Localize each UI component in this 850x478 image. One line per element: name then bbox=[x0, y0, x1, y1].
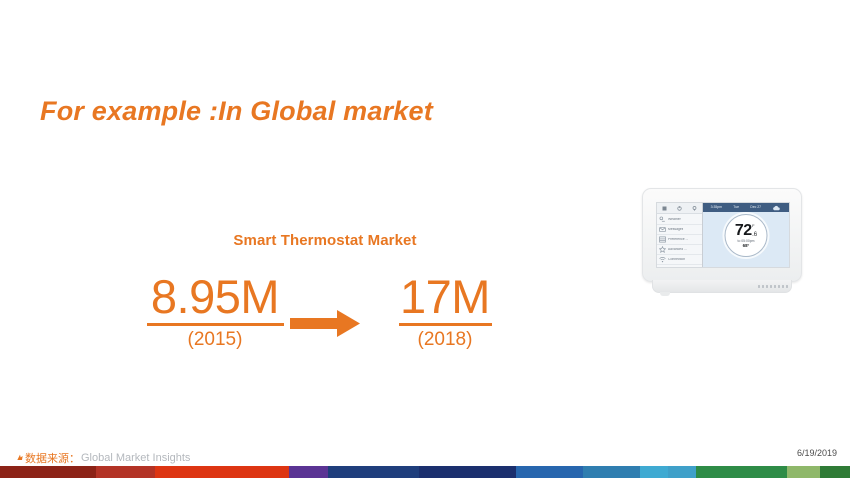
thermostat-display-panel: 3:35pm Tue Dec 27 72 F .6 to bbox=[703, 203, 789, 267]
grid-icon bbox=[662, 206, 667, 211]
thermostat-temperature-unit: F bbox=[752, 224, 754, 228]
page-title: For example :In Global market bbox=[40, 96, 433, 127]
color-band-segment-12 bbox=[820, 466, 850, 478]
stat-to-value: 17M bbox=[385, 273, 505, 320]
thermostat-temperature-value: 72 bbox=[735, 223, 752, 238]
stat-to-underline bbox=[399, 323, 492, 326]
thermostat-body: Weather Messages bbox=[642, 188, 802, 282]
thermostat-menu-label: Weather bbox=[668, 218, 681, 221]
power-icon bbox=[677, 206, 682, 211]
thermostat-menu-panel: Weather Messages bbox=[657, 203, 703, 267]
color-band-segment-1 bbox=[96, 466, 155, 478]
thermostat-menu-label: Connection bbox=[668, 258, 685, 261]
stat-from-year: (2015) bbox=[130, 330, 300, 351]
stat-from: 8.95M (2015) bbox=[130, 273, 300, 351]
status-day: Tue bbox=[733, 206, 739, 209]
slide-canvas: { "slide": { "title": "For example :In G… bbox=[0, 0, 850, 478]
thermostat-menu-item-messages[interactable]: Messages bbox=[657, 225, 702, 235]
thermostat-status-bar: 3:35pm Tue Dec 27 bbox=[703, 203, 789, 212]
color-band-segment-2 bbox=[155, 466, 289, 478]
color-band-segment-3 bbox=[289, 466, 328, 478]
footer-color-band bbox=[0, 466, 850, 478]
stat-to-year: (2018) bbox=[385, 330, 505, 351]
color-band-segment-8 bbox=[640, 466, 669, 478]
color-band-segment-5 bbox=[419, 466, 516, 478]
thermostat-menu-item-connection[interactable]: Connection bbox=[657, 255, 702, 265]
status-date: Dec 27 bbox=[750, 206, 761, 209]
color-band-segment-4 bbox=[328, 466, 419, 478]
color-band-segment-9 bbox=[668, 466, 696, 478]
smart-thermostat-image: Weather Messages bbox=[642, 188, 802, 300]
thermostat-menu-label: Messages bbox=[668, 228, 683, 231]
thermostat-menu-item-preference[interactable]: Preference ... bbox=[657, 235, 702, 245]
preference-icon bbox=[659, 236, 666, 243]
color-band-segment-10 bbox=[696, 466, 787, 478]
source-marker-icon bbox=[16, 454, 24, 462]
thermostat-temperature-decimal: .6 bbox=[752, 232, 757, 238]
source-label-cn: 数据来源： bbox=[25, 450, 80, 466]
thermostat-menu-toolbar bbox=[657, 203, 702, 214]
thermostat-temp-row: 72 F .6 bbox=[735, 223, 757, 238]
color-band-segment-11 bbox=[787, 466, 820, 478]
thermostat-temp-superscripts: F .6 bbox=[752, 223, 757, 238]
bulb-icon bbox=[692, 206, 697, 211]
source-note: 数据来源： Global Market Insights bbox=[16, 450, 190, 466]
growth-arrow bbox=[290, 309, 370, 343]
cloud-icon bbox=[772, 205, 781, 211]
wifi-icon bbox=[659, 256, 666, 263]
thermostat-menu-item-advanced[interactable]: Advanced ... bbox=[657, 245, 702, 255]
color-band-segment-7 bbox=[583, 466, 640, 478]
stat-from-value: 8.95M bbox=[130, 273, 300, 320]
weather-icon bbox=[659, 216, 666, 223]
market-stat-block: Smart Thermostat Market 8.95M (2015) 17M… bbox=[120, 232, 520, 373]
thermostat-temperature-dial: 72 F .6 to 05:00pm 68° bbox=[725, 214, 768, 257]
slide-date: 6/19/2019 bbox=[797, 448, 837, 458]
source-label-en: Global Market Insights bbox=[81, 452, 190, 464]
thermostat-menu-item-weather[interactable]: Weather bbox=[657, 215, 702, 225]
stat-heading: Smart Thermostat Market bbox=[130, 232, 520, 249]
color-band-segment-0 bbox=[0, 466, 96, 478]
thermostat-menu-label: Preference ... bbox=[668, 238, 688, 241]
thermostat-foot bbox=[660, 292, 670, 296]
color-band-segment-6 bbox=[516, 466, 583, 478]
stat-comparison-row: 8.95M (2015) 17M (2018) bbox=[120, 273, 520, 373]
thermostat-menu-list: Weather Messages bbox=[657, 214, 702, 267]
thermostat-vents bbox=[758, 285, 788, 288]
advanced-icon bbox=[659, 246, 666, 253]
right-arrow-icon bbox=[290, 309, 370, 343]
stat-from-underline bbox=[147, 323, 284, 326]
thermostat-setpoint: 68° bbox=[743, 244, 750, 248]
thermostat-screen: Weather Messages bbox=[656, 202, 790, 268]
stat-to: 17M (2018) bbox=[385, 273, 505, 351]
messages-icon bbox=[659, 226, 666, 233]
thermostat-menu-label: Advanced ... bbox=[668, 248, 687, 251]
status-time: 3:35pm bbox=[711, 206, 722, 209]
